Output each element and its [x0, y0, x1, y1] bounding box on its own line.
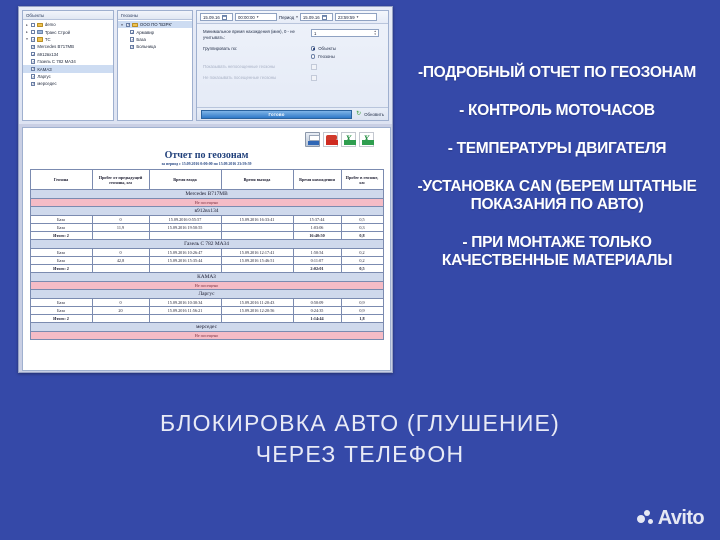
tree-item-label: demo: [45, 22, 56, 27]
group-by-radios: Объекты Геозоны: [311, 46, 336, 59]
tree-item-v912vh134[interactable]: в912вх134: [23, 51, 113, 58]
report-area: X X Отчет по геозонам за период с 15.09.…: [22, 127, 391, 371]
show-unvisited-label: Показывать непосещенные геозоны: [203, 64, 311, 70]
time-from-field[interactable]: 00:00:00 ▾: [235, 13, 277, 21]
not-visited-text: Не посещено: [30, 199, 383, 207]
chevron-down-icon[interactable]: ▾: [257, 14, 259, 21]
cell-duration: 1:50:54: [293, 249, 341, 257]
min-time-value: 1: [314, 31, 316, 36]
min-time-label: Минимальное время нахождения (мин), 0 - …: [203, 29, 311, 41]
checkbox-icon[interactable]: [126, 23, 130, 27]
cell-geozone-distance: 0,9: [341, 307, 383, 315]
cell-duration: 15:37:44: [293, 216, 341, 224]
time-to-value: 23:59:59: [338, 14, 355, 21]
table-row: База 0 15.09.2016 0:55:57 15.09.2016 16:…: [30, 216, 383, 224]
cell-duration: 1:03:06: [293, 224, 341, 232]
cell-total-prev-distance: [92, 265, 149, 273]
cell-duration: 0:11:07: [293, 257, 341, 265]
checkbox-icon[interactable]: [31, 30, 35, 34]
cell-prev-distance: 20: [92, 307, 149, 315]
date-from-field[interactable]: 15.09.16: [200, 13, 233, 21]
table-row: База 0 15.09.2016 10:26:47 15.09.2016 12…: [30, 249, 383, 257]
cell-exit-time: 15.09.2016 12:20:56: [221, 307, 293, 315]
column-header-geozone-distance: Пробег в геозоне, км: [341, 170, 383, 190]
geozone-item-label: ООО ПО "ВЗРК": [140, 22, 173, 27]
export-toolbar: X X: [23, 128, 390, 148]
cell-entry-time: 15.09.2016 15:35:44: [149, 257, 221, 265]
cell-geozone-distance: 0,5: [341, 216, 383, 224]
checkbox-icon[interactable]: [31, 52, 35, 56]
chevron-down-icon[interactable]: ▾: [357, 14, 359, 21]
cell-exit-time: [221, 224, 293, 232]
geozone-item-bolnica[interactable]: Больница: [118, 43, 192, 50]
cell-geozone-distance: 0,9: [341, 299, 383, 307]
time-to-field[interactable]: 23:59:59 ▾: [335, 13, 377, 21]
not-visited-text: Не посещено: [30, 332, 383, 340]
tree-item-label: ТС: [45, 37, 51, 42]
geozones-panel-header: Геозоны: [118, 11, 192, 20]
group-row: в912вх134: [30, 207, 383, 216]
tree-item-gazel-s782ma34[interactable]: Газель С 782 МА34: [23, 58, 113, 65]
tree-item-label: Mercedes B717MB: [37, 44, 74, 49]
min-time-stepper[interactable]: 1 ▴▾: [311, 29, 379, 37]
group-name: Газель С 782 МА34: [30, 240, 383, 249]
cell-total-prev-distance: [92, 232, 149, 240]
cell-duration: 0:50:09: [293, 299, 341, 307]
table-row: База 42,8 15.09.2016 15:35:44 15.09.2016…: [30, 257, 383, 265]
cell-total-duration: 1:14:44: [293, 315, 341, 323]
cell-exit-time: 15.09.2016 12:17:41: [221, 249, 293, 257]
params-body: Минимальное время нахождения (мин), 0 - …: [197, 24, 388, 107]
total-row: Итого: 2 16:40:50 0,8: [30, 232, 383, 240]
radio-label: Объекты: [318, 46, 336, 51]
group-row: КАМАЗ: [30, 273, 383, 282]
cell-prev-distance: 0: [92, 216, 149, 224]
group-name: КАМАЗ: [30, 273, 383, 282]
group-name: в912вх134: [30, 207, 383, 216]
period-label: Период: [279, 15, 294, 20]
geozones-tree[interactable]: ▾ ООО ПО "ВЗРК" Армавир База: [118, 20, 192, 120]
cell-total-duration: 2:02:01: [293, 265, 341, 273]
cell-entry-time: 15.09.2016 10:30:34: [149, 299, 221, 307]
column-header-prev-distance: Пробег от предыдущей геозоны, км: [92, 170, 149, 190]
checkbox-icon[interactable]: [130, 45, 134, 49]
not-visited-text: Не посещено: [30, 282, 383, 290]
bottom-headline-line-2: ЧЕРЕЗ ТЕЛЕФОН: [0, 439, 720, 470]
folder-icon: [132, 23, 138, 27]
hide-visited-checkbox: [311, 75, 317, 81]
done-button[interactable]: Готово: [201, 110, 352, 119]
radio-icon[interactable]: [311, 54, 315, 58]
cell-total-label: Итого: 2: [30, 232, 92, 240]
geozone-item-root[interactable]: ▾ ООО ПО "ВЗРК": [118, 21, 192, 28]
expander-icon[interactable]: ▾: [120, 23, 124, 27]
bullet-can-install: -УСТАНОВКА CAN (БЕРЕМ ШТАТНЫЕ ПОКАЗАНИЯ …: [398, 178, 716, 214]
cell-total-entry: [149, 232, 221, 240]
checkbox-icon[interactable]: [31, 74, 35, 78]
pdf-icon[interactable]: [323, 132, 338, 147]
geozone-item-baza[interactable]: База: [118, 36, 192, 43]
cell-exit-time: 15.09.2016 11:20:43: [221, 299, 293, 307]
report-subtitle: за период с 15.09.2016 0:00:00 по 15.09.…: [23, 162, 390, 166]
geozones-panel: Геозоны ▾ ООО ПО "ВЗРК" Армавир База: [117, 10, 193, 121]
bullet-engine-hours: - КОНТРОЛЬ МОТОЧАСОВ: [398, 102, 716, 120]
calendar-icon[interactable]: [322, 15, 327, 20]
poster-root: VK VK Объекты ▸ demo ▸: [0, 0, 720, 540]
bottom-headline: БЛОКИРОВКА АВТО (ГЛУШЕНИЕ) ЧЕРЕЗ ТЕЛЕФОН: [0, 408, 720, 470]
excel-xls-icon[interactable]: X: [341, 132, 356, 147]
print-icon[interactable]: [305, 132, 320, 147]
bullet-geozone-report: -ПОДРОБНЫЙ ОТЧЕТ ПО ГЕОЗОНАМ: [398, 64, 716, 82]
cell-total-duration: 16:40:50: [293, 232, 341, 240]
avito-logo: Avito: [637, 507, 704, 530]
column-header-duration: Время нахождения: [293, 170, 341, 190]
cell-total-prev-distance: [92, 315, 149, 323]
objects-panel-header: Объекты: [23, 11, 113, 20]
action-bar: Готово ↻ Обновить: [197, 107, 388, 120]
cell-duration: 0:24:35: [293, 307, 341, 315]
geozone-report-table: Геозона Пробег от предыдущей геозоны, км…: [30, 169, 384, 340]
cell-entry-time: 15.09.2016 0:55:57: [149, 216, 221, 224]
date-to-value: 15.09.16: [303, 14, 320, 21]
tree-item-label: Газель С 782 МА34: [37, 59, 75, 64]
cell-entry-time: 15.09.2016 10:26:47: [149, 249, 221, 257]
report-params-panel: 15.09.16 00:00:00 ▾ Период ▾ 15.09.16 23: [196, 10, 389, 121]
cell-exit-time: 15.09.2016 15:46:51: [221, 257, 293, 265]
total-row: Итого: 2 1:14:44 1,8: [30, 315, 383, 323]
cell-geozone: База: [30, 216, 92, 224]
hide-visited-label: Не показывать посещенные геозоны: [203, 75, 311, 81]
group-name: Mercedes B717MB: [30, 190, 383, 199]
checkbox-icon[interactable]: [130, 37, 134, 41]
radio-group-geozones[interactable]: Геозоны: [311, 54, 336, 59]
stepper-arrows-icon[interactable]: ▴▾: [374, 30, 376, 36]
cell-entry-time: 15.09.2016 19:50:55: [149, 224, 221, 232]
table-row: База 11,9 15.09.2016 19:50:55 1:03:06 0,…: [30, 224, 383, 232]
objects-panel: Объекты ▸ demo ▸ Транс Строй: [22, 10, 114, 121]
refresh-button-label: Обновить: [364, 112, 384, 117]
group-row: мерседес: [30, 323, 383, 332]
tree-item-transstroy[interactable]: ▸ Транс Строй: [23, 28, 113, 35]
cell-exit-time: 15.09.2016 16:33:41: [221, 216, 293, 224]
checkbox-icon[interactable]: [31, 59, 35, 63]
cell-geozone: База: [30, 307, 92, 315]
checkbox-icon[interactable]: [130, 30, 134, 34]
group-name: Ларгус: [30, 290, 383, 299]
calendar-icon[interactable]: [222, 15, 227, 20]
checkbox-icon[interactable]: [31, 37, 35, 41]
cell-total-distance: 1,8: [341, 315, 383, 323]
table-row: База 0 15.09.2016 10:30:34 15.09.2016 11…: [30, 299, 383, 307]
cell-total-exit: [221, 315, 293, 323]
group-row: Ларгус: [30, 290, 383, 299]
geozone-item-armavir[interactable]: Армавир: [118, 28, 192, 35]
tree-item-ts[interactable]: ▾ ТС: [23, 36, 113, 43]
total-row: Итого: 2 2:02:01 0,5: [30, 265, 383, 273]
cell-entry-time: 15.09.2016 11:56:21: [149, 307, 221, 315]
cell-geozone: База: [30, 249, 92, 257]
tree-item-label: Ларгус: [37, 74, 50, 79]
tree-item-largus[interactable]: Ларгус: [23, 73, 113, 80]
group-by-label: Группировать по:: [203, 46, 311, 52]
date-to-field[interactable]: 15.09.16: [300, 13, 333, 21]
radio-icon[interactable]: [311, 46, 315, 50]
bottom-headline-line-1: БЛОКИРОВКА АВТО (ГЛУШЕНИЕ): [0, 408, 720, 439]
excel-xlsx-icon[interactable]: X: [359, 132, 374, 147]
avito-dots-icon: [637, 510, 654, 527]
cell-geozone-distance: 0,3: [341, 224, 383, 232]
cell-prev-distance: 42,8: [92, 257, 149, 265]
cell-prev-distance: 0: [92, 249, 149, 257]
radio-group-objects[interactable]: Объекты: [311, 46, 336, 51]
refresh-icon: ↻: [356, 111, 362, 117]
cell-geozone: База: [30, 257, 92, 265]
checkbox-icon[interactable]: [31, 23, 35, 27]
geozone-item-label: Армавир: [136, 30, 154, 35]
folder-icon: [37, 23, 43, 27]
checkbox-icon[interactable]: [31, 67, 35, 71]
expander-icon[interactable]: ▸: [25, 23, 29, 27]
group-by-row: Группировать по: Объекты Геозоны: [203, 46, 382, 59]
table-header-row: Геозона Пробег от предыдущей геозоны, км…: [30, 170, 383, 190]
refresh-button[interactable]: ↻ Обновить: [356, 111, 384, 117]
config-area: Объекты ▸ demo ▸ Транс Строй: [19, 7, 392, 124]
geozone-item-label: База: [136, 37, 146, 42]
hide-visited-row: Не показывать посещенные геозоны: [203, 75, 382, 81]
cell-total-distance: 0,5: [341, 265, 383, 273]
not-visited-row: Не посещено: [30, 332, 383, 340]
date-range-bar: 15.09.16 00:00:00 ▾ Период ▾ 15.09.16 23: [197, 11, 388, 24]
cell-geozone: База: [30, 299, 92, 307]
show-unvisited-row: Показывать непосещенные геозоны: [203, 64, 382, 70]
geozone-item-label: Больница: [136, 44, 156, 49]
cell-total-label: Итого: 2: [30, 315, 92, 323]
tree-item-label: КАМАЗ: [37, 67, 51, 72]
objects-tree[interactable]: ▸ demo ▸ Транс Строй ▾: [23, 20, 113, 120]
cell-geozone-distance: 0,2: [341, 249, 383, 257]
folder-icon: [37, 37, 43, 41]
expander-icon[interactable]: ▸: [25, 30, 29, 34]
feature-bullet-list: -ПОДРОБНЫЙ ОТЧЕТ ПО ГЕОЗОНАМ - КОНТРОЛЬ …: [398, 64, 716, 270]
min-time-row: Минимальное время нахождения (мин), 0 - …: [203, 29, 382, 41]
bullet-engine-temperature: - ТЕМПЕРАТУРЫ ДВИГАТЕЛЯ: [398, 140, 716, 158]
group-name: мерседес: [30, 323, 383, 332]
expander-icon[interactable]: ▾: [25, 37, 29, 41]
bullet-quality-materials: - ПРИ МОНТАЖЕ ТОЛЬКО КАЧЕСТВЕННЫЕ МАТЕРИ…: [398, 234, 716, 270]
tree-item-kamaz[interactable]: КАМАЗ: [23, 65, 113, 72]
table-row: База 20 15.09.2016 11:56:21 15.09.2016 1…: [30, 307, 383, 315]
checkbox-icon[interactable]: [31, 82, 35, 86]
column-header-exit-time: Время выхода: [221, 170, 293, 190]
tree-item-demo[interactable]: ▸ demo: [23, 21, 113, 28]
date-from-value: 15.09.16: [203, 14, 220, 21]
not-visited-row: Не посещено: [30, 282, 383, 290]
checkbox-icon[interactable]: [31, 45, 35, 49]
tree-item-mercedes-lower[interactable]: мерседес: [23, 80, 113, 87]
truck-icon: [37, 30, 43, 34]
time-from-value: 00:00:00: [238, 14, 255, 21]
column-header-entry-time: Время входа: [149, 170, 221, 190]
cell-total-exit: [221, 265, 293, 273]
cell-total-exit: [221, 232, 293, 240]
group-row: Газель С 782 МА34: [30, 240, 383, 249]
tree-item-label: Транс Строй: [45, 30, 70, 35]
avito-wordmark: Avito: [658, 507, 704, 530]
cell-total-entry: [149, 265, 221, 273]
cell-total-entry: [149, 315, 221, 323]
cell-geozone-distance: 0,2: [341, 257, 383, 265]
tracking-app-window: Объекты ▸ demo ▸ Транс Строй: [18, 6, 393, 373]
cell-prev-distance: 0: [92, 299, 149, 307]
tree-item-mercedes-b717mb[interactable]: Mercedes B717MB: [23, 43, 113, 50]
cell-geozone: База: [30, 224, 92, 232]
cell-total-distance: 0,8: [341, 232, 383, 240]
group-row: Mercedes B717MB: [30, 190, 383, 199]
show-unvisited-checkbox: [311, 64, 317, 70]
column-header-geozone: Геозона: [30, 170, 92, 190]
tree-item-label: мерседес: [37, 81, 56, 86]
radio-label: Геозоны: [318, 54, 335, 59]
period-chevron-down-icon[interactable]: ▾: [296, 15, 298, 19]
cell-prev-distance: 11,9: [92, 224, 149, 232]
tree-item-label: в912вх134: [37, 52, 58, 57]
report-title: Отчет по геозонам: [23, 150, 390, 161]
cell-total-label: Итого: 2: [30, 265, 92, 273]
not-visited-row: Не посещено: [30, 199, 383, 207]
